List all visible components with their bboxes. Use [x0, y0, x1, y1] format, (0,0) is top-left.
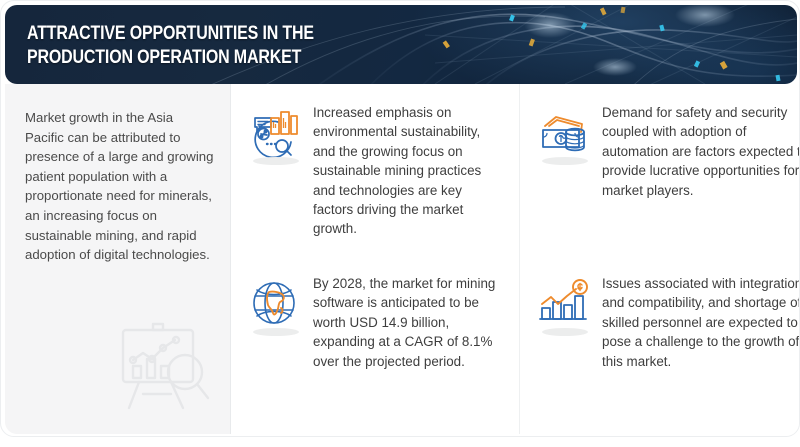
icon-shadow	[542, 328, 588, 336]
icon-shadow	[542, 157, 588, 165]
point-safety-security: Demand for safety and security coupled w…	[520, 84, 800, 259]
point-text: By 2028, the market for mining software …	[313, 273, 505, 371]
point-text: Demand for safety and security coupled w…	[602, 102, 800, 200]
icon-shadow	[253, 157, 299, 165]
point-sustainability: Increased emphasis on environmental sust…	[231, 84, 519, 259]
page-title: ATTRACTIVE OPPORTUNITIES IN THE PRODUCTI…	[27, 22, 453, 69]
icon-shadow	[253, 328, 299, 336]
point-text: Issues associated with integration and c…	[602, 273, 800, 371]
points-column-left: Increased emphasis on environmental sust…	[231, 84, 520, 434]
content-body: Market growth in the Asia Pacific can be…	[5, 84, 797, 434]
pie-chart-analysis-icon	[247, 104, 305, 162]
region-panel: Market growth in the Asia Pacific can be…	[5, 84, 231, 434]
point-text: Increased emphasis on environmental sust…	[313, 102, 505, 239]
region-description: Market growth in the Asia Pacific can be…	[25, 108, 215, 265]
infographic-card: ATTRACTIVE OPPORTUNITIES IN THE PRODUCTI…	[0, 0, 800, 437]
money-cash-coins-icon	[536, 104, 594, 162]
points-grid: Increased emphasis on environmental sust…	[231, 84, 800, 434]
header-banner: ATTRACTIVE OPPORTUNITIES IN THE PRODUCTI…	[5, 5, 797, 84]
point-market-forecast: By 2028, the market for mining software …	[231, 259, 519, 434]
globe-icon	[247, 275, 305, 333]
presentation-chart-magnifier-icon	[109, 316, 215, 416]
points-column-right: Demand for safety and security coupled w…	[520, 84, 800, 434]
bar-chart-growth-dollar-icon	[536, 275, 594, 333]
point-challenges: Issues associated with integration and c…	[520, 259, 800, 434]
